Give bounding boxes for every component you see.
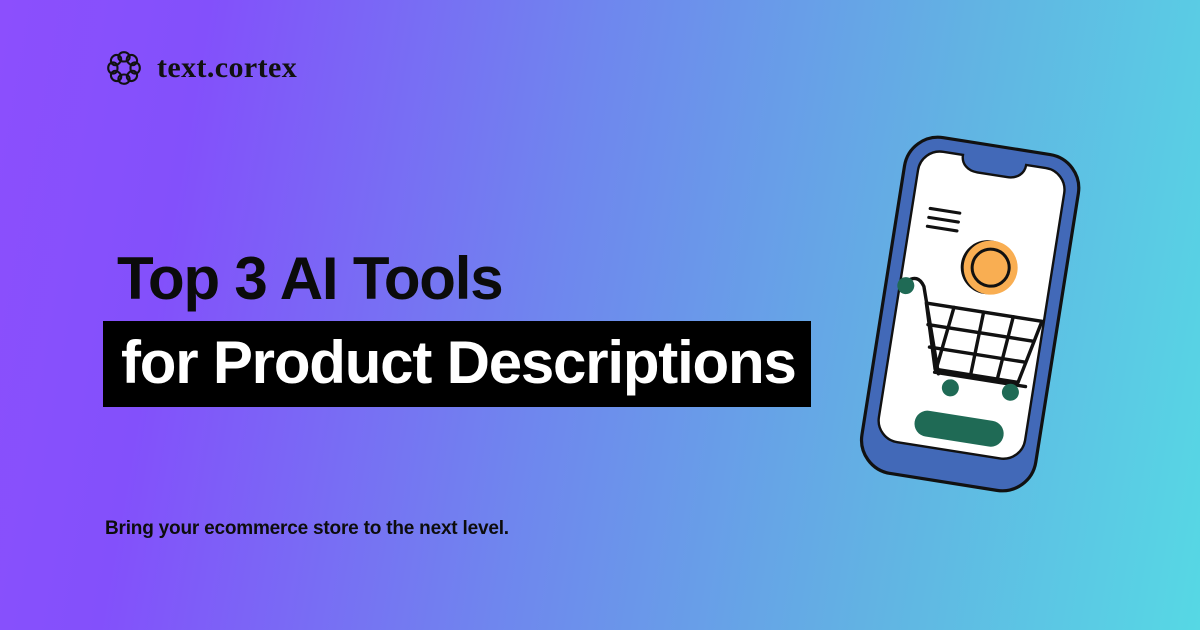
headline-line-1: Top 3 AI Tools (103, 247, 803, 310)
subtitle: Bring your ecommerce store to the next l… (105, 518, 509, 540)
cortex-brain-logo-icon (104, 48, 144, 88)
brand-name: text.cortex (157, 53, 297, 83)
brand-logo[interactable]: text.cortex (104, 48, 297, 88)
ecommerce-phone-illustration (840, 120, 1100, 510)
headline-line-2: for Product Descriptions (121, 333, 796, 393)
headline-highlight-box: for Product Descriptions (103, 321, 811, 407)
headline: Top 3 AI Tools for Product Descriptions (103, 247, 803, 407)
